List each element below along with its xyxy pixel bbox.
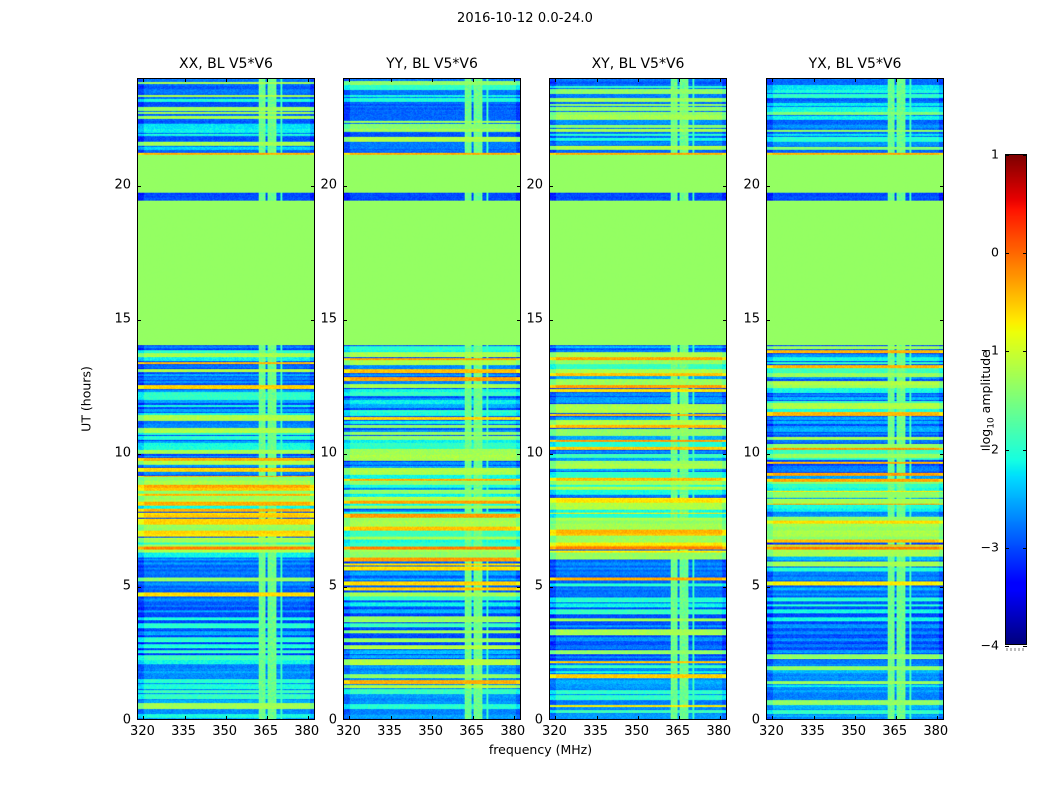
colorbar-tick-label: 1 [991,147,999,162]
x-tick [720,78,721,82]
panel-title-yy: YY, BL V5*V6 [343,56,521,72]
y-tick [343,186,347,187]
y-tick-label: 20 [114,178,131,193]
x-tick [473,716,474,720]
x-tick [267,78,268,82]
x-tick-label: 365 [459,724,484,739]
y-tick [517,454,521,455]
x-tick-label: 380 [923,724,948,739]
x-tick-label: 365 [882,724,907,739]
y-tick-label: 20 [526,178,543,193]
y-tick-label: 0 [752,713,760,728]
colorbar-gradient [1005,154,1027,645]
x-tick-label: 335 [583,724,608,739]
x-tick [937,716,938,720]
x-tick [638,716,639,720]
y-tick-label: 20 [320,178,337,193]
y-tick-label: 0 [329,713,337,728]
x-tick-label: 380 [500,724,525,739]
x-tick [896,78,897,82]
colorbar-tick [1005,351,1009,352]
x-tick-label: 320 [542,724,567,739]
plot-area-yx[interactable] [766,78,944,720]
x-tick-label: 365 [665,724,690,739]
colorbar-tick [1005,548,1009,549]
y-tick [549,320,553,321]
x-tick [814,78,815,82]
y-tick [766,320,770,321]
y-tick [723,320,727,321]
x-tick [597,716,598,720]
plot-area-yy[interactable] [343,78,521,720]
x-tick [679,78,680,82]
y-tick [137,186,141,187]
x-tick [597,78,598,82]
panel-title-xx: XX, BL V5*V6 [137,56,315,72]
x-tick [896,716,897,720]
y-tick-label: 10 [743,445,760,460]
colorbar-label: log10 amplitude [978,350,997,448]
y-tick-label: 10 [320,445,337,460]
x-tick [514,78,515,82]
colorbar-tick-label: −4 [981,638,999,653]
y-tick [343,587,347,588]
y-tick-label: 0 [535,713,543,728]
y-tick-label: 15 [114,311,131,326]
plot-area-xx[interactable] [137,78,315,720]
panel-xy: XY, BL V5*V632033535036538005101520 [549,78,727,720]
x-tick [391,78,392,82]
x-tick [185,716,186,720]
x-tick [555,78,556,82]
y-tick [766,587,770,588]
panel-yx: YX, BL V5*V632033535036538005101520 [766,78,944,720]
x-axis-label: frequency (MHz) [137,742,944,757]
y-tick [311,186,315,187]
x-tick [308,716,309,720]
x-tick [937,78,938,82]
x-tick [185,78,186,82]
y-tick-label: 5 [329,579,337,594]
x-tick [855,716,856,720]
x-tick-label: 380 [294,724,319,739]
y-tick [137,587,141,588]
x-tick [349,78,350,82]
heatmap-canvas-xx [138,79,314,719]
x-tick [679,716,680,720]
colorbar-tick [1023,253,1027,254]
heatmap-canvas-yy [344,79,520,719]
x-tick-label: 350 [418,724,443,739]
y-tick [549,186,553,187]
heatmap-canvas-xy [550,79,726,719]
x-tick [638,78,639,82]
y-tick-label: 15 [526,311,543,326]
heatmap-canvas-yx [767,79,943,719]
y-tick [311,454,315,455]
colorbar-tick [1005,646,1009,647]
x-tick [814,716,815,720]
x-tick [514,716,515,720]
y-tick-label: 10 [526,445,543,460]
y-tick [517,320,521,321]
x-tick [267,716,268,720]
panel-title-yx: YX, BL V5*V6 [766,56,944,72]
colorbar-tick [1005,450,1009,451]
colorbar-under-swatch [1006,648,1026,651]
y-tick-label: 5 [535,579,543,594]
x-tick-label: 365 [253,724,278,739]
y-tick-label: 5 [752,579,760,594]
y-tick [549,587,553,588]
x-tick [772,78,773,82]
x-tick-label: 335 [171,724,196,739]
colorbar-label-post: amplitude [978,350,993,417]
colorbar-tick [1005,253,1009,254]
x-tick [772,716,773,720]
colorbar-tick [1023,155,1027,156]
y-tick [940,320,944,321]
y-tick-label: 0 [123,713,131,728]
colorbar-label-pre: log [978,429,993,448]
y-tick [311,320,315,321]
y-tick-label: 20 [743,178,760,193]
x-tick-label: 320 [336,724,361,739]
y-tick-label: 15 [320,311,337,326]
y-tick [766,454,770,455]
x-tick-label: 335 [377,724,402,739]
x-tick-label: 380 [706,724,731,739]
colorbar-tick-label: 0 [991,245,999,260]
colorbar-tick [1023,548,1027,549]
figure-title: 2016-10-12 0.0-24.0 [0,11,1050,26]
y-tick [343,454,347,455]
colorbar-tick-label: −3 [981,539,999,554]
y-tick-label: 10 [114,445,131,460]
x-tick [555,716,556,720]
panel-title-xy: XY, BL V5*V6 [549,56,727,72]
colorbar-tick [1023,351,1027,352]
colorbar-tick [1023,450,1027,451]
colorbar-tick [1023,646,1027,647]
x-tick [349,716,350,720]
x-tick [226,78,227,82]
y-tick [311,587,315,588]
y-tick [940,454,944,455]
colorbar-label-sub: 10 [986,417,996,428]
y-tick [549,454,553,455]
y-tick [343,320,347,321]
colorbar-tick [1005,155,1009,156]
colorbar [1005,154,1027,645]
x-tick [720,716,721,720]
y-tick [137,454,141,455]
x-tick [143,78,144,82]
x-tick [308,78,309,82]
x-tick [432,716,433,720]
y-tick [517,587,521,588]
x-tick-label: 350 [624,724,649,739]
y-tick [723,454,727,455]
panel-yy: YY, BL V5*V632033535036538005101520 [343,78,521,720]
x-tick [432,78,433,82]
x-tick [143,716,144,720]
colorbar-canvas [1006,155,1026,644]
y-tick [940,186,944,187]
y-tick [723,186,727,187]
y-tick [940,587,944,588]
y-tick [723,587,727,588]
y-tick-label: 5 [123,579,131,594]
y-tick [766,186,770,187]
x-tick [226,716,227,720]
plot-area-xy[interactable] [549,78,727,720]
x-tick [855,78,856,82]
y-tick [517,186,521,187]
panel-xx: XX, BL V5*V632033535036538005101520 [137,78,315,720]
x-tick-label: 350 [841,724,866,739]
x-tick-label: 320 [759,724,784,739]
y-axis-label: UT (hours) [79,366,94,432]
x-tick [391,716,392,720]
x-tick-label: 335 [800,724,825,739]
y-tick [137,320,141,321]
x-tick-label: 350 [212,724,237,739]
x-tick-label: 320 [130,724,155,739]
x-tick [473,78,474,82]
y-tick-label: 15 [743,311,760,326]
